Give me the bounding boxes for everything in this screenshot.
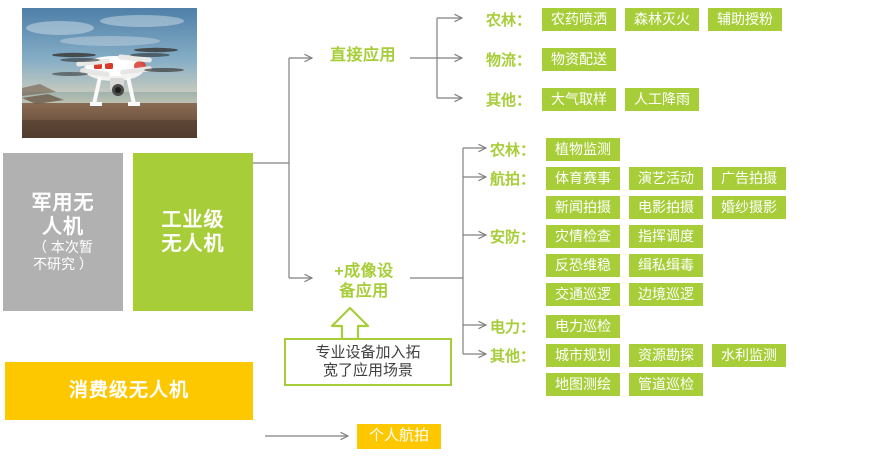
row-imaging-aerial: 航拍： 体育赛事 演艺活动 广告拍摄	[490, 166, 795, 190]
tag-group: 灾情检查 指挥调度	[546, 225, 712, 248]
tag-group: 大气取样 人工降雨	[542, 88, 708, 111]
tag-item[interactable]: 指挥调度	[629, 225, 703, 248]
tag-item[interactable]: 演艺活动	[629, 167, 703, 190]
tag-item[interactable]: 电力巡检	[546, 315, 620, 338]
tag-item[interactable]: 电影拍摄	[629, 196, 703, 219]
tag-item[interactable]: 植物监测	[546, 138, 620, 161]
tag-item[interactable]: 婚纱摄影	[712, 196, 786, 219]
callout-line1: 专业设备加入拓	[315, 344, 420, 362]
row-imaging-aerial-cont: 新闻拍摄 电影拍摄 婚纱摄影	[490, 195, 795, 219]
tag-item[interactable]: 灾情检查	[546, 225, 620, 248]
row-imaging-security-cont1: 反恐维稳 缉私缉毒	[490, 253, 712, 277]
tag-item[interactable]: 水利监测	[712, 344, 786, 367]
block-military-note-line1: （ 本次暂	[33, 239, 93, 256]
row-direct-other: 其他： 大气取样 人工降雨	[486, 87, 708, 111]
row-imaging-other: 其他： 城市规划 资源勘探 水利监测	[490, 343, 795, 367]
tag-group: 体育赛事 演艺活动 广告拍摄	[546, 167, 795, 190]
row-direct-logistics: 物流： 物资配送	[486, 47, 625, 71]
row-label: 其他：	[490, 345, 546, 366]
row-label: 物流：	[486, 49, 542, 70]
drone-photo	[22, 8, 197, 138]
tag-item[interactable]: 边境巡逻	[629, 283, 703, 306]
block-industrial-title-line2: 无人机	[162, 232, 225, 256]
tag-item[interactable]: 城市规划	[546, 344, 620, 367]
tag-item[interactable]: 管道巡检	[629, 373, 703, 396]
row-imaging-security: 安防： 灾情检查 指挥调度	[490, 224, 712, 248]
tag-group: 物资配送	[542, 48, 625, 71]
trunk-label-imaging-line2: 备应用	[322, 282, 406, 302]
tag-item[interactable]: 森林灭火	[625, 8, 699, 31]
row-label: 其他：	[486, 89, 542, 110]
row-imaging-power: 电力： 电力巡检	[490, 314, 629, 338]
tag-group: 交通巡逻 边境巡逻	[546, 283, 712, 306]
block-consumer-title: 消费级无人机	[69, 379, 189, 402]
trunk-label-imaging-line1: +成像设	[322, 262, 406, 282]
tag-item-personal-aerial[interactable]: 个人航拍	[357, 424, 441, 449]
tag-group: 地图测绘 管道巡检	[546, 373, 712, 396]
tag-group: 新闻拍摄 电影拍摄 婚纱摄影	[546, 196, 795, 219]
row-imaging-other-cont: 地图测绘 管道巡检	[490, 372, 712, 396]
tag-item[interactable]: 反恐维稳	[546, 254, 620, 277]
block-military-note-line2: 不研究 ）	[33, 256, 93, 273]
tag-item[interactable]: 交通巡逻	[546, 283, 620, 306]
block-industrial-drone[interactable]: 工业级 无人机	[133, 153, 253, 311]
tag-item[interactable]: 资源勘探	[629, 344, 703, 367]
row-label: 安防：	[490, 226, 546, 247]
tag-item[interactable]: 大气取样	[542, 88, 616, 111]
trunk-label-direct-line1: 直接应用	[320, 46, 406, 66]
callout-box: 专业设备加入拓 宽了应用场景	[284, 338, 452, 386]
row-label: 农林：	[490, 139, 546, 160]
block-industrial-title-line1: 工业级	[162, 208, 225, 232]
tag-item[interactable]: 农药喷洒	[542, 8, 616, 31]
row-imaging-security-cont2: 交通巡逻 边境巡逻	[490, 282, 712, 306]
tag-group: 城市规划 资源勘探 水利监测	[546, 344, 795, 367]
block-military-title-line1: 军用无	[32, 191, 95, 215]
drone-photo-illustration	[22, 8, 197, 138]
callout-up-arrow-icon	[330, 306, 370, 340]
tag-group: 植物监测	[546, 138, 629, 161]
tag-item[interactable]: 人工降雨	[625, 88, 699, 111]
tag-group: 反恐维稳 缉私缉毒	[546, 254, 712, 277]
row-label: 电力：	[490, 316, 546, 337]
tag-item[interactable]: 缉私缉毒	[629, 254, 703, 277]
trunk-label-direct-application: 直接应用	[320, 46, 406, 66]
row-label: 农林：	[486, 9, 542, 30]
tag-item[interactable]: 物资配送	[542, 48, 616, 71]
tag-group: 农药喷洒 森林灭火 辅助授粉	[542, 8, 791, 31]
tag-item[interactable]: 辅助授粉	[708, 8, 782, 31]
tag-group: 电力巡检	[546, 315, 629, 338]
row-personal-aerial: 个人航拍	[357, 424, 441, 449]
block-consumer-drone[interactable]: 消费级无人机	[5, 362, 253, 420]
block-military-drone[interactable]: 军用无 人机 （ 本次暂 不研究 ）	[3, 153, 123, 311]
tag-item[interactable]: 体育赛事	[546, 167, 620, 190]
block-military-title-line2: 人机	[42, 215, 84, 239]
tag-item[interactable]: 新闻拍摄	[546, 196, 620, 219]
row-imaging-agriculture: 农林： 植物监测	[490, 137, 629, 161]
callout-line2: 宽了应用场景	[323, 362, 413, 380]
tag-item[interactable]: 广告拍摄	[712, 167, 786, 190]
trunk-label-imaging-application: +成像设 备应用	[322, 262, 406, 302]
row-direct-agriculture: 农林： 农药喷洒 森林灭火 辅助授粉	[486, 7, 791, 31]
row-label: 航拍：	[490, 168, 546, 189]
tag-item[interactable]: 地图测绘	[546, 373, 620, 396]
